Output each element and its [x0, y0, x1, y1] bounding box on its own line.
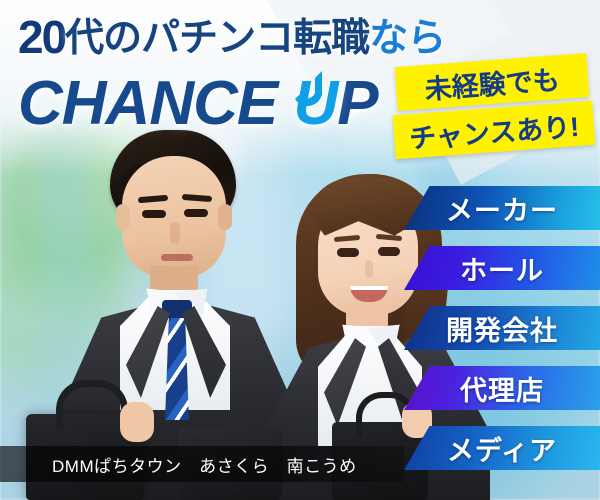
- logo-letter-u-glyph: U: [293, 69, 337, 138]
- recruitment-banner: 20代のパチンコ転職なら CHANCE UP 未経験でも チャンスあり! メーカ…: [0, 0, 600, 500]
- man-hand: [120, 402, 154, 442]
- category-label-developer: 開発会社: [446, 309, 558, 348]
- category-button-media[interactable]: メディア: [404, 426, 600, 470]
- man-ear-right: [218, 204, 232, 230]
- category-button-hall[interactable]: ホール: [404, 246, 600, 290]
- category-label-maker: メーカー: [446, 189, 558, 228]
- man-eye-right: [184, 209, 208, 217]
- man-nose: [170, 222, 180, 244]
- logo-letter-u: U: [293, 73, 337, 135]
- category-label-agency: 代理店: [460, 369, 544, 408]
- woman-nose: [365, 260, 373, 278]
- category-button-developer[interactable]: 開発会社: [404, 306, 600, 350]
- caption-bar: DMMぱちタウン あさくら 南こうめ: [0, 446, 404, 482]
- headline-number: 20: [18, 11, 65, 63]
- category-label-media: メディア: [447, 429, 557, 468]
- caption-text: DMMぱちタウン あさくら 南こうめ: [0, 452, 357, 477]
- man-ear-left: [116, 204, 130, 230]
- woman-eye-right: [378, 247, 400, 256]
- headline: 20代のパチンコ転職なら: [18, 14, 445, 60]
- logo-letter-p: P: [337, 69, 377, 138]
- headline-main-text: 代のパチンコ転職: [65, 17, 369, 60]
- woman-eye-left: [337, 248, 359, 257]
- category-button-agency[interactable]: 代理店: [404, 366, 600, 410]
- man-mouth: [161, 254, 193, 261]
- category-button-maker[interactable]: メーカー: [404, 186, 600, 230]
- category-label-hall: ホール: [460, 249, 544, 288]
- logo-word-chance: CHANCE: [18, 69, 277, 138]
- man-eye-left: [142, 210, 166, 218]
- logo-chance-up: CHANCE UP: [18, 73, 378, 135]
- ribbon-1-label: 未経験でも: [423, 58, 560, 107]
- headline-accent-text: なら: [369, 17, 445, 60]
